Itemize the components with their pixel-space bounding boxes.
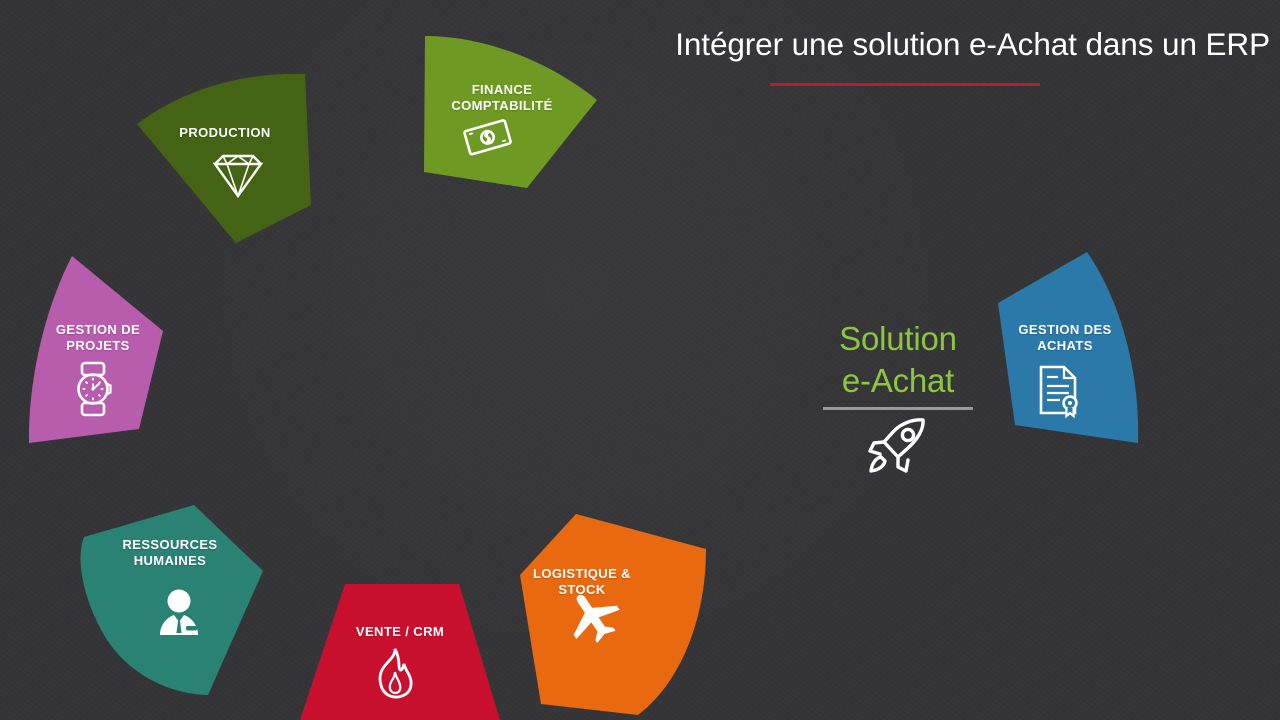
title-underline: [770, 83, 1040, 86]
page-title: Intégrer une solution e-Achat dans un ER…: [540, 26, 1270, 63]
brand-line-1: Solution: [800, 318, 996, 360]
erp-module-wheel: [0, 0, 1280, 720]
slide-canvas: FINANCE COMPTABILITÉ GESTION DES ACHATS …: [0, 0, 1280, 720]
wheel-segment-logistique-stock[interactable]: [520, 514, 706, 715]
brand-line-2: e-Achat: [800, 360, 996, 402]
logistique-stock-segment-shape: [520, 514, 706, 715]
wheel-segment-vente-crm[interactable]: [300, 584, 500, 720]
vente-crm-segment-shape: [300, 584, 500, 720]
center-brand-block: Solution e-Achat: [800, 318, 996, 475]
brand-divider: [823, 407, 973, 410]
title-block: Intégrer une solution e-Achat dans un ER…: [540, 26, 1270, 63]
rocket-icon: [800, 417, 996, 475]
